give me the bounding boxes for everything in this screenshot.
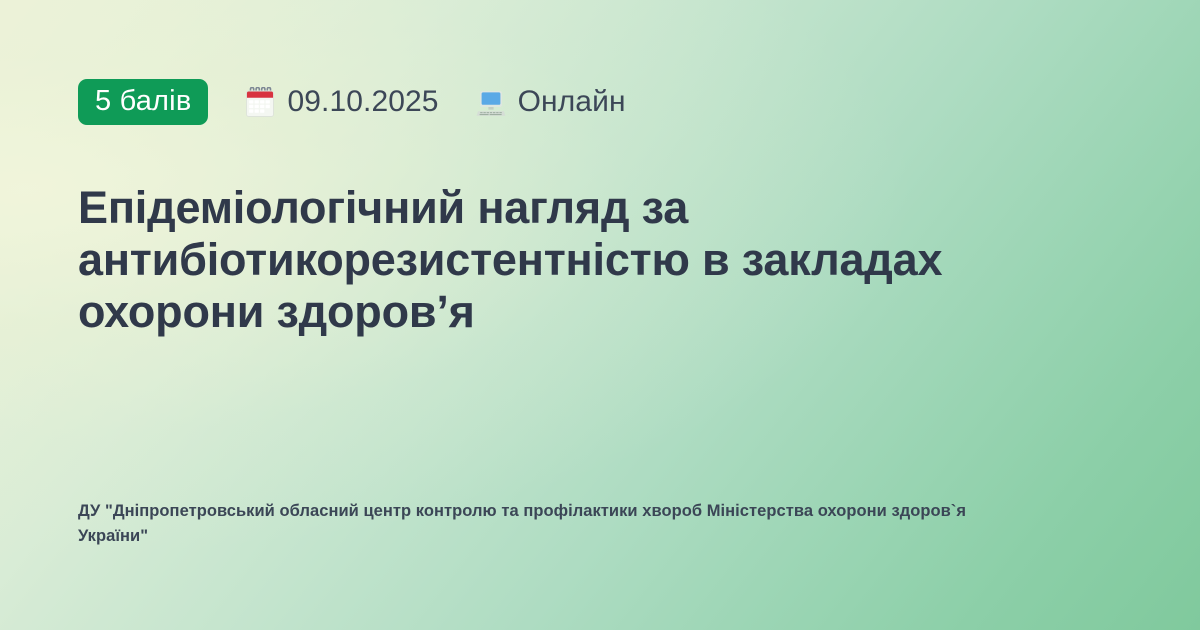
points-badge: 5 балів xyxy=(78,79,208,125)
event-meta-row: 5 балів xyxy=(78,78,626,126)
event-format-label: Онлайн xyxy=(518,85,626,119)
event-promo-card: 5 балів xyxy=(0,0,1200,630)
calendar-icon xyxy=(244,87,276,119)
desktop-computer-icon xyxy=(475,89,507,119)
organizer-name: ДУ "Дніпропетровський обласний центр кон… xyxy=(78,499,1018,549)
event-date: 09.10.2025 xyxy=(244,85,438,119)
points-badge-label: 5 балів xyxy=(95,85,191,118)
event-date-label: 09.10.2025 xyxy=(287,85,438,119)
page-title: Епідеміологічний нагляд за антибіотикоре… xyxy=(78,182,978,338)
event-format: Онлайн xyxy=(475,85,626,119)
